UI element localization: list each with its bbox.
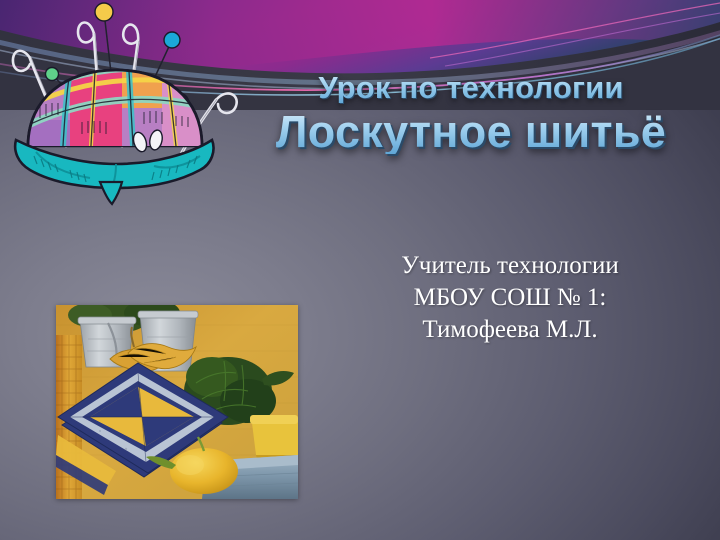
subtitle-line-name: Тимофеева М.Л. xyxy=(330,314,690,346)
title-line-1: Урок по технологии xyxy=(236,72,706,103)
slide-title: Урок по технологии Лоскутное шитьё xyxy=(236,72,706,154)
cyan-pin-head xyxy=(164,32,180,48)
green-pin-head xyxy=(46,68,59,81)
subtitle-line-school: МБОУ СОШ № 1: xyxy=(330,282,690,314)
pincushion-illustration xyxy=(4,0,254,204)
slide-subtitle: Учитель технологии МБОУ СОШ № 1: Тимофее… xyxy=(330,250,690,346)
subtitle-line-teacher: Учитель технологии xyxy=(330,250,690,282)
patchwork-potholder-photo xyxy=(56,305,298,499)
title-line-2: Лоскутное шитьё xyxy=(236,109,706,154)
presentation-slide: Урок по технологии Лоскутное шитьё Учите… xyxy=(0,0,720,540)
yellow-pin-head xyxy=(95,3,113,21)
